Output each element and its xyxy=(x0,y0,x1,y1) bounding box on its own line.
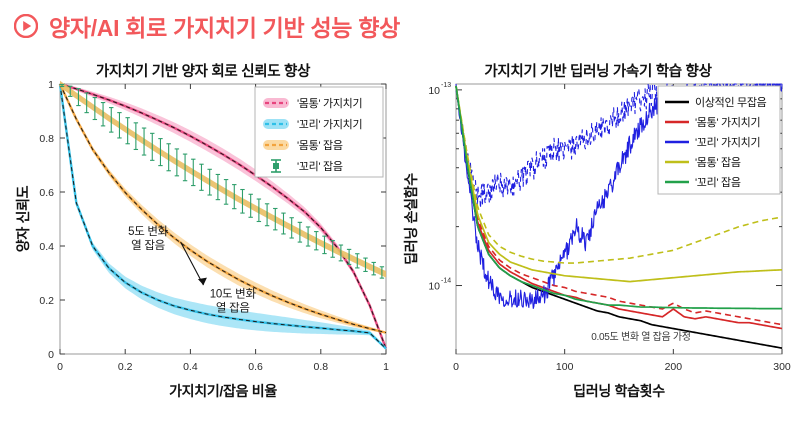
x-tick-label: 0.4 xyxy=(183,361,198,373)
assumption-note: 0.05도 변화 열 잡음 가정 xyxy=(591,331,690,343)
legend-label: '몸통' 가지치기 xyxy=(297,97,362,110)
x-tick-label: 100 xyxy=(556,361,574,373)
x-tick-label: 0 xyxy=(57,361,63,373)
legend-label: '꼬리' 가지치기 xyxy=(297,118,362,131)
y-tick-label: 0.8 xyxy=(39,133,54,145)
play-circle-icon xyxy=(14,14,38,38)
legend-label: '몸통' 가지치기 xyxy=(695,116,760,129)
annotation-line1: 10도 변화 xyxy=(210,287,257,300)
right-chart-panel: 가지치기 기반 딥러닝 가속기 학습 향상 010020030010-1310-… xyxy=(400,52,796,418)
x-axis-title: 가지치기/잡음 비율 xyxy=(169,383,277,399)
y-tick-label: 0.6 xyxy=(39,187,54,199)
annotation-line2: 열 잡음 xyxy=(131,239,165,252)
left-chart-panel: 가지치기 기반 양자 회로 신뢰도 향상 00.20.40.60.8100.20… xyxy=(8,52,398,418)
legend-label: '꼬리' 가지치기 xyxy=(695,136,760,149)
legend-label: 이상적인 무잡음 xyxy=(695,96,767,109)
legend-label: '꼬리' 잡음 xyxy=(297,160,343,173)
y-tick-label: 0.2 xyxy=(39,295,54,307)
y-tick-label: 10 xyxy=(428,281,440,293)
y-axis-title: 딥러닝 손실함수 xyxy=(403,173,419,265)
legend-swatch-marker xyxy=(273,163,279,169)
x-tick-label: 0.2 xyxy=(118,361,133,373)
x-tick-label: 0.6 xyxy=(248,361,263,373)
x-tick-label: 0 xyxy=(453,361,459,373)
annotation-line1: 5도 변화 xyxy=(128,225,169,238)
y-tick-label: 0.4 xyxy=(39,241,54,253)
page-title: 양자/AI 회로 가지치기 기반 성능 향상 xyxy=(49,9,400,43)
y-tick-label: 1 xyxy=(48,79,54,91)
x-tick-label: 0.8 xyxy=(313,361,328,373)
legend-label: '몸통' 잡음 xyxy=(695,156,741,169)
x-axis-title: 딥러닝 학습횟수 xyxy=(573,383,665,399)
x-tick-label: 200 xyxy=(665,361,683,373)
y-tick-label: 10 xyxy=(428,85,440,97)
y-tick-exponent: -13 xyxy=(441,82,451,89)
y-tick-exponent: -14 xyxy=(441,278,451,285)
x-tick-label: 300 xyxy=(773,361,791,373)
legend-label: '꼬리' 잡음 xyxy=(695,176,741,189)
slide-header: 양자/AI 회로 가지치기 기반 성능 향상 xyxy=(0,4,800,48)
y-axis-title: 양자 신뢰도 xyxy=(15,185,31,252)
x-tick-label: 1 xyxy=(383,361,389,373)
deeplearning-loss-chart: 010020030010-1310-14딥러닝 학습횟수딥러닝 손실함수0.05… xyxy=(400,76,796,418)
slide-canvas: 양자/AI 회로 가지치기 기반 성능 향상 가지치기 기반 양자 회로 신뢰도… xyxy=(0,0,800,422)
annotation-line2: 열 잡음 xyxy=(216,301,250,314)
y-tick-label: 0 xyxy=(48,349,54,361)
legend-label: '몸통' 잡음 xyxy=(297,139,343,152)
quantum-fidelity-chart: 00.20.40.60.8100.20.40.60.81가지치기/잡음 비율양자… xyxy=(8,76,398,418)
